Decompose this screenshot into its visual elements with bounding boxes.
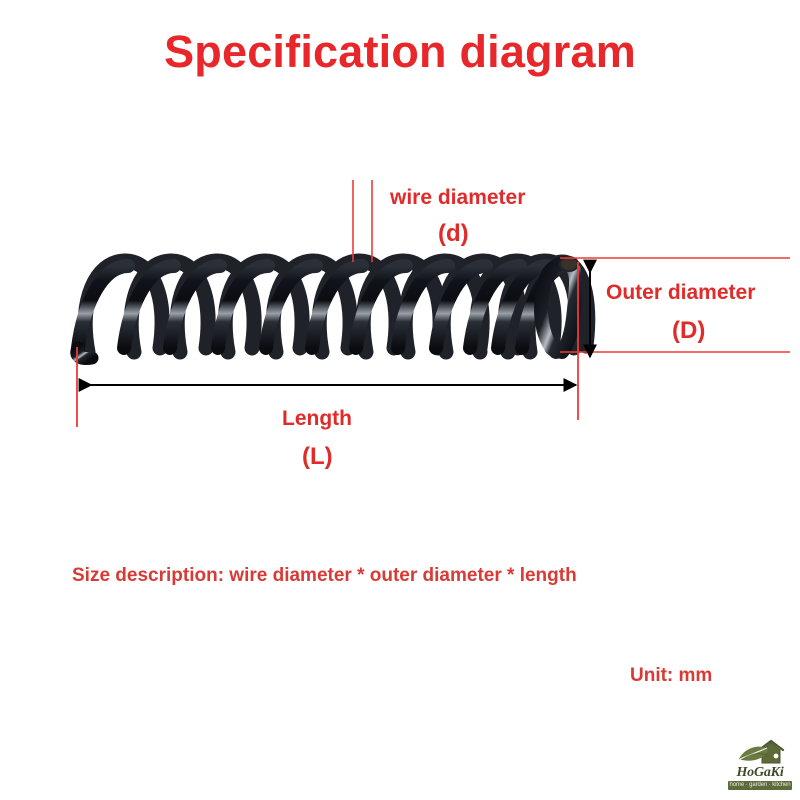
house-leaf-icon	[726, 739, 794, 767]
unit-note: Unit: mm	[630, 665, 712, 687]
length-label: Length	[282, 407, 352, 431]
brand-logo: HoGaKi home · garden · kitchen	[726, 739, 794, 791]
logo-tagline: home · garden · kitchen	[728, 781, 792, 790]
wire-diameter-symbol: (d)	[438, 220, 469, 248]
length-symbol: (L)	[302, 443, 333, 471]
wire-diameter-dimension	[353, 180, 372, 262]
spring-illustration	[77, 257, 588, 359]
logo-tagline-bar: home · garden · kitchen	[728, 781, 792, 790]
wire-diameter-label: wire diameter	[390, 186, 525, 210]
logo-wordmark: HoGaKi	[726, 766, 794, 780]
outer-diameter-symbol: (D)	[672, 317, 705, 345]
size-description-note: Size description: wire diameter * outer …	[72, 565, 577, 587]
outer-diameter-label: Outer diameter	[606, 281, 755, 305]
